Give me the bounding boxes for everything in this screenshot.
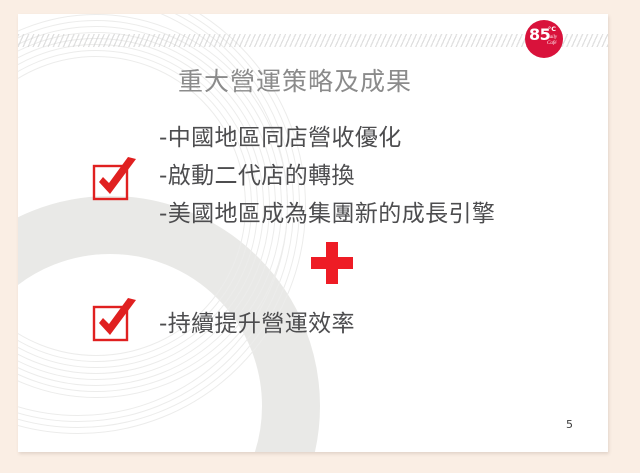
page-number: 5 (566, 418, 573, 431)
logo-degree: °C (548, 26, 556, 33)
bullet-line-2: -啟動二代店的轉換 (159, 156, 355, 190)
checkbox-checked-icon (91, 297, 139, 345)
presentation-page: 85 °C Daily Café 重大營運策略及成果 -中國地區同店營收優化 -… (0, 0, 640, 473)
plus-icon (311, 242, 353, 284)
bullet-line-4: -持續提升營運效率 (159, 304, 355, 338)
85c-logo: 85 °C Daily Café (525, 20, 563, 58)
bullet-line-1: -中國地區同店營收優化 (159, 118, 402, 152)
checkbox-checked-icon (91, 156, 139, 204)
hatched-band-decoration (18, 34, 608, 47)
page-title: 重大營運策略及成果 (178, 62, 412, 98)
logo-subtext-cafe: Café (547, 41, 556, 47)
bullet-line-3: -美國地區成為集團新的成長引擎 (159, 194, 495, 228)
slide-canvas: 85 °C Daily Café 重大營運策略及成果 -中國地區同店營收優化 -… (18, 14, 608, 452)
